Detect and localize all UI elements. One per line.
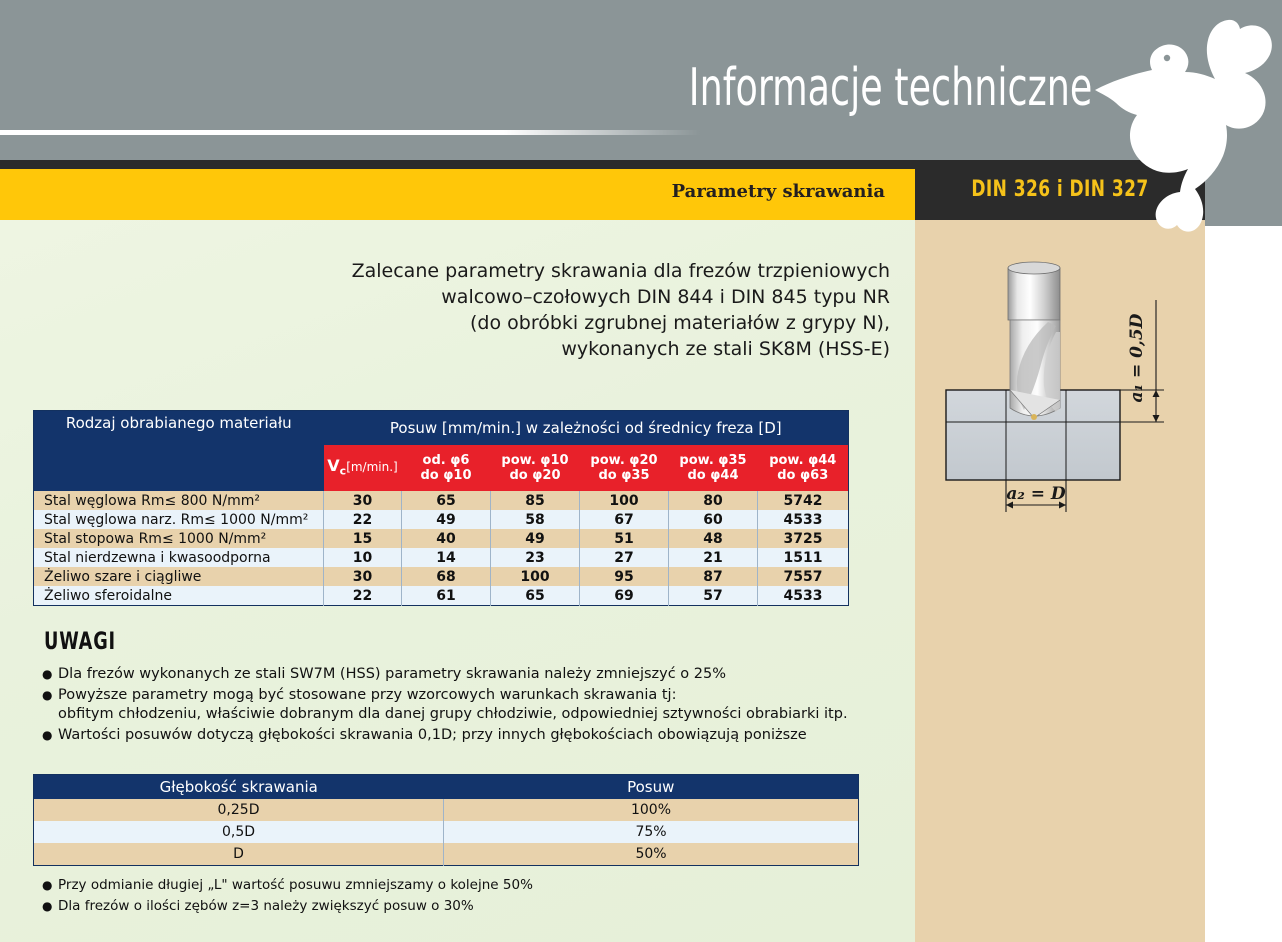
header-dia-col-4: pow. φ44 do φ63	[758, 445, 849, 491]
note-item: ● Wartości posuwów dotyczą głębokości sk…	[42, 726, 872, 745]
row-5-v2: 69	[580, 586, 669, 606]
intro-paragraph: Zalecane parametry skrawania dla frezów …	[300, 258, 890, 362]
row-2-v2: 51	[580, 529, 669, 548]
row-4-v4: 7557	[758, 567, 849, 586]
row-2-v0: 40	[402, 529, 491, 548]
row-1-material: Stal węglowa narz. Rm≤ 1000 N/mm²	[34, 510, 324, 529]
header-dia-col-3: pow. φ35 do φ44	[669, 445, 758, 491]
depth-row-1-depth: 0,5D	[34, 821, 444, 843]
note-1-continuation: obfitym chłodzeniu, właściwie dobranym d…	[58, 705, 872, 724]
table-row: Stal stopowa Rm≤ 1000 N/mm² 15 40 49 51 …	[34, 529, 849, 548]
depth-row-0-feed: 100%	[444, 799, 859, 821]
header-vc: Vc[m/min.]	[324, 445, 402, 491]
header-material-cell: Rodzaj obrabianego materiału	[34, 411, 324, 492]
header-dia-4-bottom: do φ63	[758, 468, 849, 483]
row-3-v2: 27	[580, 548, 669, 567]
row-3-material: Stal nierdzewna i kwasoodporna	[34, 548, 324, 567]
row-5-v1: 65	[491, 586, 580, 606]
table-row: 0,5D 75%	[34, 821, 859, 843]
depth-feed-table: Głębokość skrawania Posuw 0,25D 100% 0,5…	[33, 774, 859, 866]
depth-header-0: Głębokość skrawania	[34, 775, 444, 800]
header-dia-4-top: pow. φ44	[758, 453, 849, 468]
cutting-diagram: a₁ = 0,5D a₂ = D	[920, 240, 1200, 530]
bullet-icon: ●	[42, 665, 52, 684]
intro-line-4: wykonanych ze stali SK8M (HSS-E)	[300, 336, 890, 362]
bullet-icon: ●	[42, 686, 52, 705]
row-4-material: Żeliwo szare i ciągliwe	[34, 567, 324, 586]
depth-row-2-depth: D	[34, 843, 444, 866]
row-1-v2: 67	[580, 510, 669, 529]
dimension-a2-label: a₂ = D	[1006, 484, 1066, 504]
table-row: Stal węglowa narz. Rm≤ 1000 N/mm² 22 49 …	[34, 510, 849, 529]
depth-row-0-depth: 0,25D	[34, 799, 444, 821]
depth-table-header-row: Głębokość skrawania Posuw	[34, 775, 859, 800]
header-dia-col-1: pow. φ10 do φ20	[491, 445, 580, 491]
dimension-a1-label: a₁ = 0,5D	[1127, 313, 1147, 402]
row-0-v0: 65	[402, 491, 491, 510]
notes-list: ● Dla frezów wykonanych ze stali SW7M (H…	[42, 665, 872, 747]
row-1-v0: 49	[402, 510, 491, 529]
row-3-v3: 21	[669, 548, 758, 567]
depth-row-1-feed: 75%	[444, 821, 859, 843]
table-row: D 50%	[34, 843, 859, 866]
note-2-text: Wartości posuwów dotyczą głębokości skra…	[58, 727, 807, 743]
bottom-note-0-text: Przy odmianie długiej „L" wartość posuwu…	[58, 877, 533, 893]
row-5-vc: 22	[324, 586, 402, 606]
row-4-vc: 30	[324, 567, 402, 586]
table-row: Żeliwo sferoidalne 22 61 65 69 57 4533	[34, 586, 849, 606]
row-4-v3: 87	[669, 567, 758, 586]
row-1-vc: 22	[324, 510, 402, 529]
table-header-span-row: Rodzaj obrabianego materiału Posuw [mm/m…	[34, 411, 849, 446]
table-row: 0,25D 100%	[34, 799, 859, 821]
row-0-v4: 5742	[758, 491, 849, 510]
right-margin	[1205, 226, 1282, 942]
row-3-v1: 23	[491, 548, 580, 567]
header-dia-3-top: pow. φ35	[669, 453, 758, 468]
row-1-v1: 58	[491, 510, 580, 529]
section-title-label: Parametry skrawania	[672, 181, 885, 202]
note-item: ● Dla frezów o ilości zębów z=3 należy z…	[42, 897, 842, 916]
intro-line-3: (do obróbki zgrubnej materiałów z grypy …	[300, 310, 890, 336]
header-dia-col-2: pow. φ20 do φ35	[580, 445, 669, 491]
row-2-v3: 48	[669, 529, 758, 548]
header-dia-1-bottom: do φ20	[491, 468, 580, 483]
row-1-v3: 60	[669, 510, 758, 529]
row-2-v1: 49	[491, 529, 580, 548]
row-0-vc: 30	[324, 491, 402, 510]
header-dia-0-bottom: do φ10	[402, 468, 491, 483]
row-2-material: Stal stopowa Rm≤ 1000 N/mm²	[34, 529, 324, 548]
header-feed-span: Posuw [mm/min.] w zależności od średnicy…	[324, 411, 849, 446]
standard-badge: DIN 326 i DIN 327	[915, 160, 1205, 220]
bullet-icon: ●	[42, 726, 52, 745]
row-3-v0: 14	[402, 548, 491, 567]
bottom-notes-list: ● Przy odmianie długiej „L" wartość posu…	[42, 876, 842, 918]
row-1-v4: 4533	[758, 510, 849, 529]
header-dia-2-top: pow. φ20	[580, 453, 669, 468]
row-2-vc: 15	[324, 529, 402, 548]
table-row: Stal nierdzewna i kwasoodporna 10 14 23 …	[34, 548, 849, 567]
page-title: Informacje techniczne	[688, 62, 1092, 114]
bullet-icon: ●	[42, 897, 52, 916]
header-dia-col-0: od. φ6 do φ10	[402, 445, 491, 491]
intro-line-2: walcowo–czołowych DIN 844 i DIN 845 typu…	[300, 284, 890, 310]
row-4-v1: 100	[491, 567, 580, 586]
cutting-parameters-table: Rodzaj obrabianego materiału Posuw [mm/m…	[33, 410, 849, 606]
row-4-v0: 68	[402, 567, 491, 586]
depth-header-1: Posuw	[444, 775, 859, 800]
header-rule	[0, 130, 700, 135]
note-0-text: Dla frezów wykonanych ze stali SW7M (HSS…	[58, 666, 726, 682]
vc-unit: [m/min.]	[346, 460, 398, 474]
row-0-v3: 80	[669, 491, 758, 510]
notes-heading: UWAGI	[44, 627, 116, 655]
bottom-note-1-text: Dla frezów o ilości zębów z=3 należy zwi…	[58, 898, 474, 914]
row-0-v1: 85	[491, 491, 580, 510]
note-item: ● Powyższe parametry mogą być stosowane …	[42, 686, 872, 724]
depth-row-2-feed: 50%	[444, 843, 859, 866]
table-row: Stal węglowa Rm≤ 800 N/mm² 30 65 85 100 …	[34, 491, 849, 510]
intro-line-1: Zalecane parametry skrawania dla frezów …	[300, 258, 890, 284]
row-0-v2: 100	[580, 491, 669, 510]
header-dia-1-top: pow. φ10	[491, 453, 580, 468]
row-5-v0: 61	[402, 586, 491, 606]
row-4-v2: 95	[580, 567, 669, 586]
end-mill-cutter-icon	[1008, 262, 1060, 420]
header-dia-3-bottom: do φ44	[669, 468, 758, 483]
row-5-material: Żeliwo sferoidalne	[34, 586, 324, 606]
section-title-bar: Parametry skrawania	[0, 169, 915, 220]
table-row: Żeliwo szare i ciągliwe 30 68 100 95 87 …	[34, 567, 849, 586]
row-3-v4: 1511	[758, 548, 849, 567]
header-dia-2-bottom: do φ35	[580, 468, 669, 483]
note-item: ● Przy odmianie długiej „L" wartość posu…	[42, 876, 842, 895]
header-dia-0-top: od. φ6	[402, 453, 491, 468]
bullet-icon: ●	[42, 876, 52, 895]
standard-label: DIN 326 i DIN 327	[971, 177, 1148, 202]
row-5-v4: 4533	[758, 586, 849, 606]
row-5-v3: 57	[669, 586, 758, 606]
note-1-text: Powyższe parametry mogą być stosowane pr…	[58, 687, 676, 703]
page-header: Informacje techniczne	[0, 0, 1282, 160]
header-material-label: Rodzaj obrabianego materiału	[34, 414, 324, 488]
header-gray-right-fill	[1205, 160, 1282, 226]
note-item: ● Dla frezów wykonanych ze stali SW7M (H…	[42, 665, 872, 684]
row-2-v4: 3725	[758, 529, 849, 548]
vc-symbol: V	[327, 456, 339, 475]
row-0-material: Stal węglowa Rm≤ 800 N/mm²	[34, 491, 324, 510]
row-3-vc: 10	[324, 548, 402, 567]
